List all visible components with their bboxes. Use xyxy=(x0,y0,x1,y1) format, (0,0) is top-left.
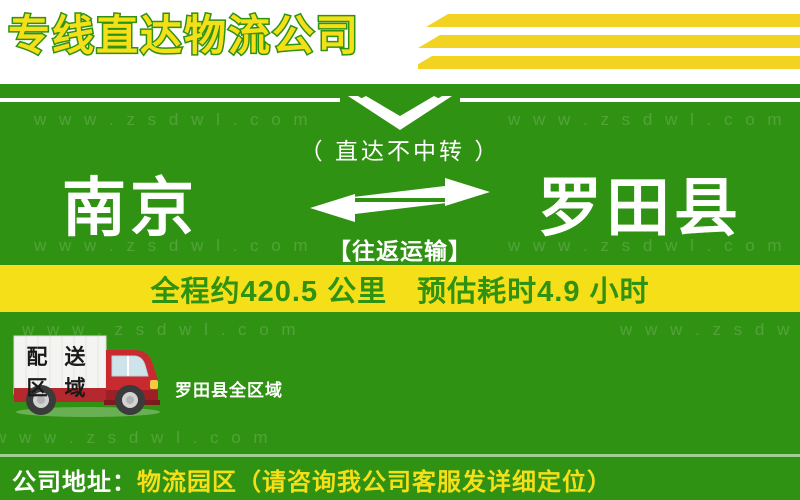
watermark: w w w . z s d w l . c o m xyxy=(0,428,272,448)
chevron-down-icon xyxy=(340,96,460,130)
company-address-label: 公司地址： xyxy=(12,469,137,496)
watermark: w w w . z s d w l . c o m xyxy=(620,320,800,340)
page-title: 专线直达物流公司 xyxy=(8,8,360,64)
route-note-direct: （ 直达不中转 ） xyxy=(300,132,501,166)
delivery-area-text: 罗田县全区域 xyxy=(175,376,283,401)
stripe-3 xyxy=(418,56,800,69)
watermark: w w w . z s d w l . c o m xyxy=(508,110,786,130)
stripe-1 xyxy=(418,14,800,27)
distance-duration-bar: 全程约420.5 公里 预估耗时4.9 小时 xyxy=(0,265,800,312)
stripe-2 xyxy=(418,35,800,48)
header-stripes-decoration xyxy=(418,12,800,74)
logistics-poster: 专线直达物流公司 w w w . z s d w l . c o m w w w… xyxy=(0,0,800,500)
company-address-value: 物流园区（请咨询我公司客服发详细定位） xyxy=(137,469,612,496)
bidirectional-arrow-icon xyxy=(285,176,515,224)
poster-header: 专线直达物流公司 xyxy=(0,0,800,84)
delivery-truck-icon xyxy=(8,332,168,418)
company-address: 公司地址：物流园区（请咨询我公司客服发详细定位） xyxy=(12,462,612,497)
origin-city: 南京 xyxy=(62,172,198,244)
watermark: w w w . z s d w l . c o m xyxy=(34,110,312,130)
route-note-roundtrip: 【往返运输】 xyxy=(328,232,472,266)
distance-duration-text: 全程约420.5 公里 预估耗时4.9 小时 xyxy=(151,268,650,310)
destination-city: 罗田县 xyxy=(538,172,742,244)
poster-body: w w w . z s d w l . c o m w w w . z s d … xyxy=(0,84,800,500)
footer-divider xyxy=(0,454,800,457)
